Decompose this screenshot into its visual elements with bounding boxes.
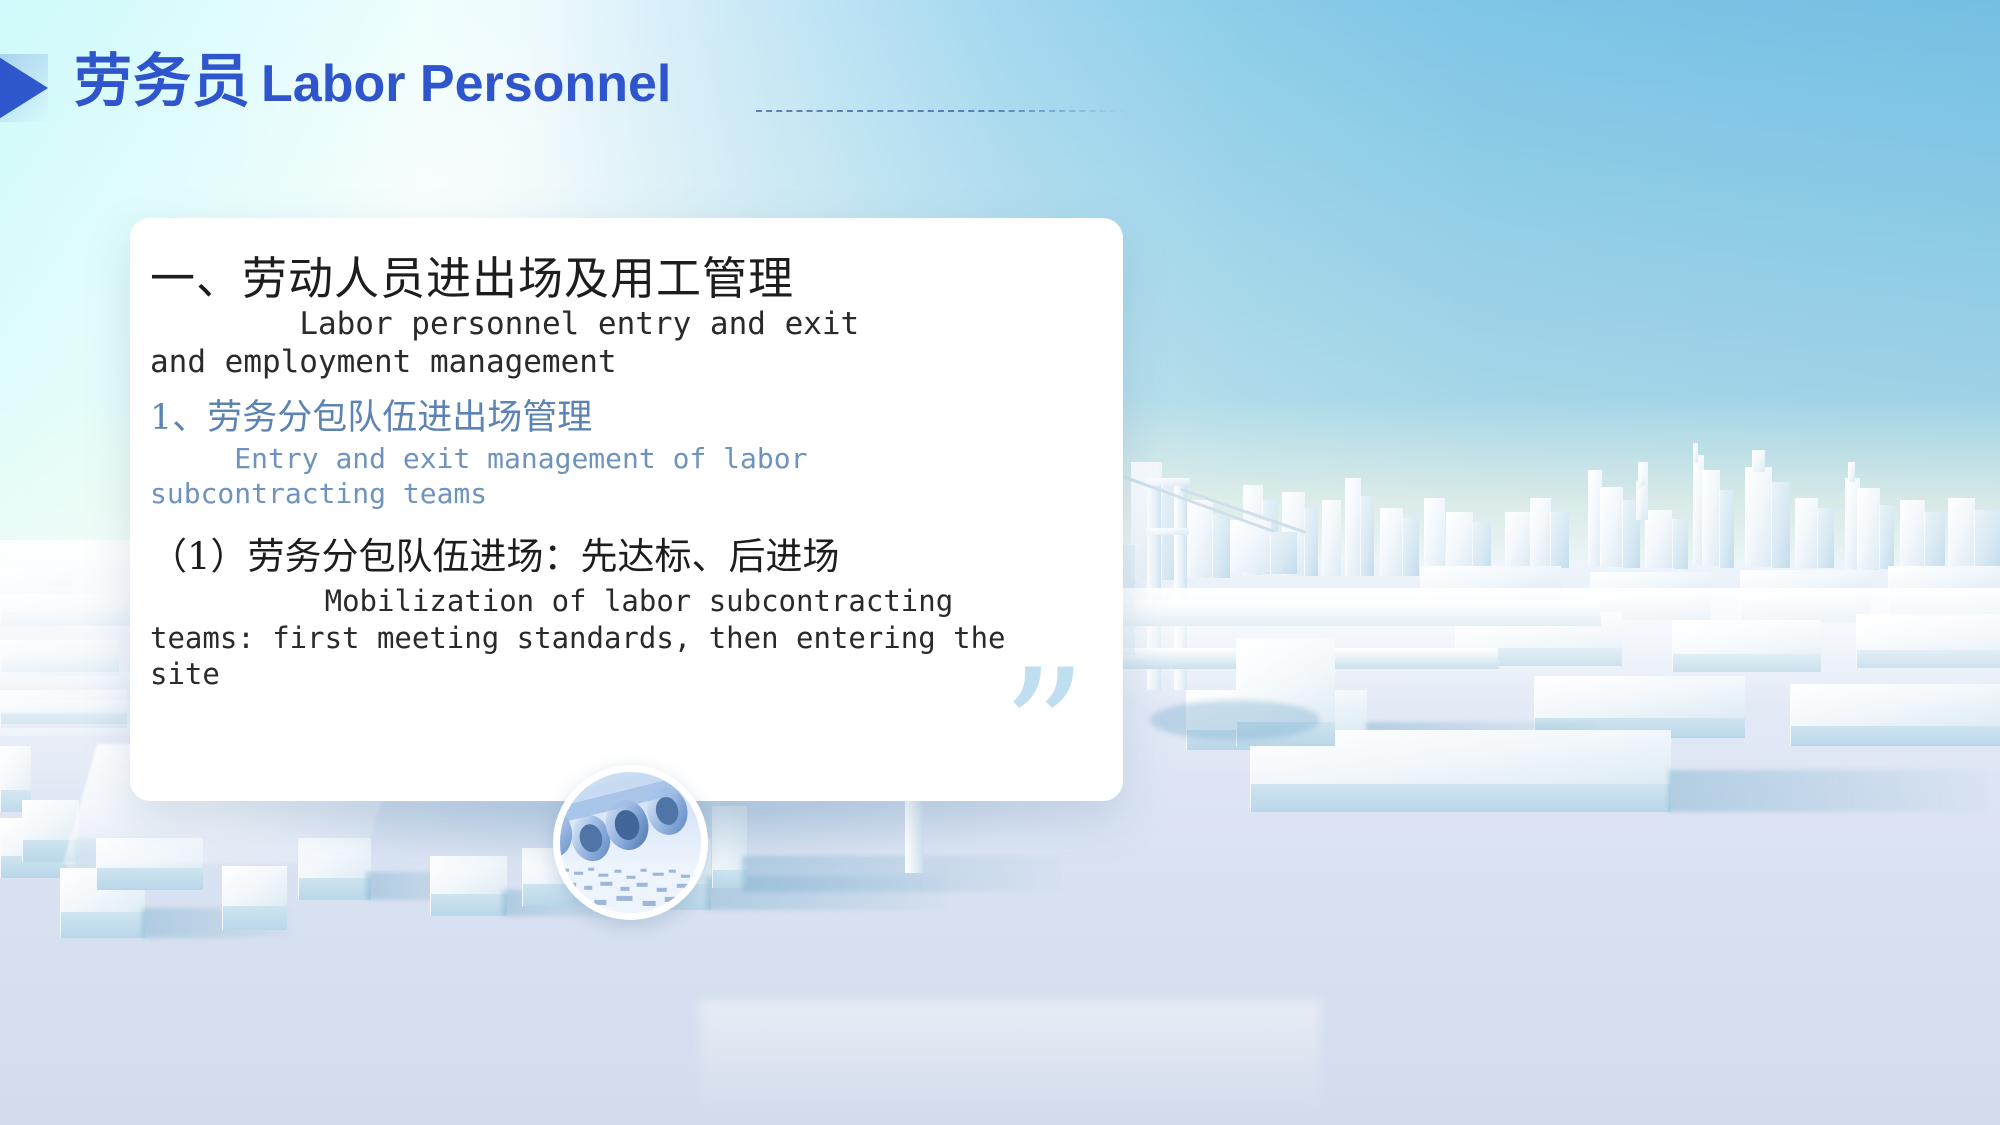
- dashed-rule-icon: [756, 110, 1136, 112]
- slide-header: 劳务员Labor Personnel: [0, 24, 1500, 134]
- circular-photo-badge: [553, 765, 708, 920]
- body-paragraph-cn: （1）劳务分包队伍进场：先达标、后进场: [150, 536, 1097, 579]
- content-card-body: 一、劳动人员进出场及用工管理 Labor personnel entry and…: [130, 218, 1123, 693]
- quote-mark-icon: ”: [1001, 647, 1087, 801]
- blueprint-pipes-image: [560, 772, 701, 913]
- subsection-heading-cn: 1、劳务分包队伍进出场管理: [150, 398, 1097, 439]
- subsection-heading-en: Entry and exit management of labor subco…: [150, 441, 1097, 513]
- page-title: 劳务员Labor Personnel: [74, 52, 671, 110]
- content-card: 一、劳动人员进出场及用工管理 Labor personnel entry and…: [130, 218, 1123, 801]
- section-heading-en: Labor personnel entry and exit and emplo…: [150, 306, 1097, 382]
- slide-root: 劳务员Labor Personnel 一、劳动人员进出场及用工管理 Labor …: [0, 0, 2000, 1125]
- page-title-en: Labor Personnel: [261, 55, 671, 113]
- triangle-right-icon: [0, 54, 48, 122]
- page-title-cn: 劳务员: [74, 47, 251, 115]
- body-paragraph-en: Mobilization of labor subcontracting tea…: [150, 583, 1097, 693]
- section-heading-cn: 一、劳动人员进出场及用工管理: [150, 254, 1097, 304]
- card-support-post: [905, 797, 923, 873]
